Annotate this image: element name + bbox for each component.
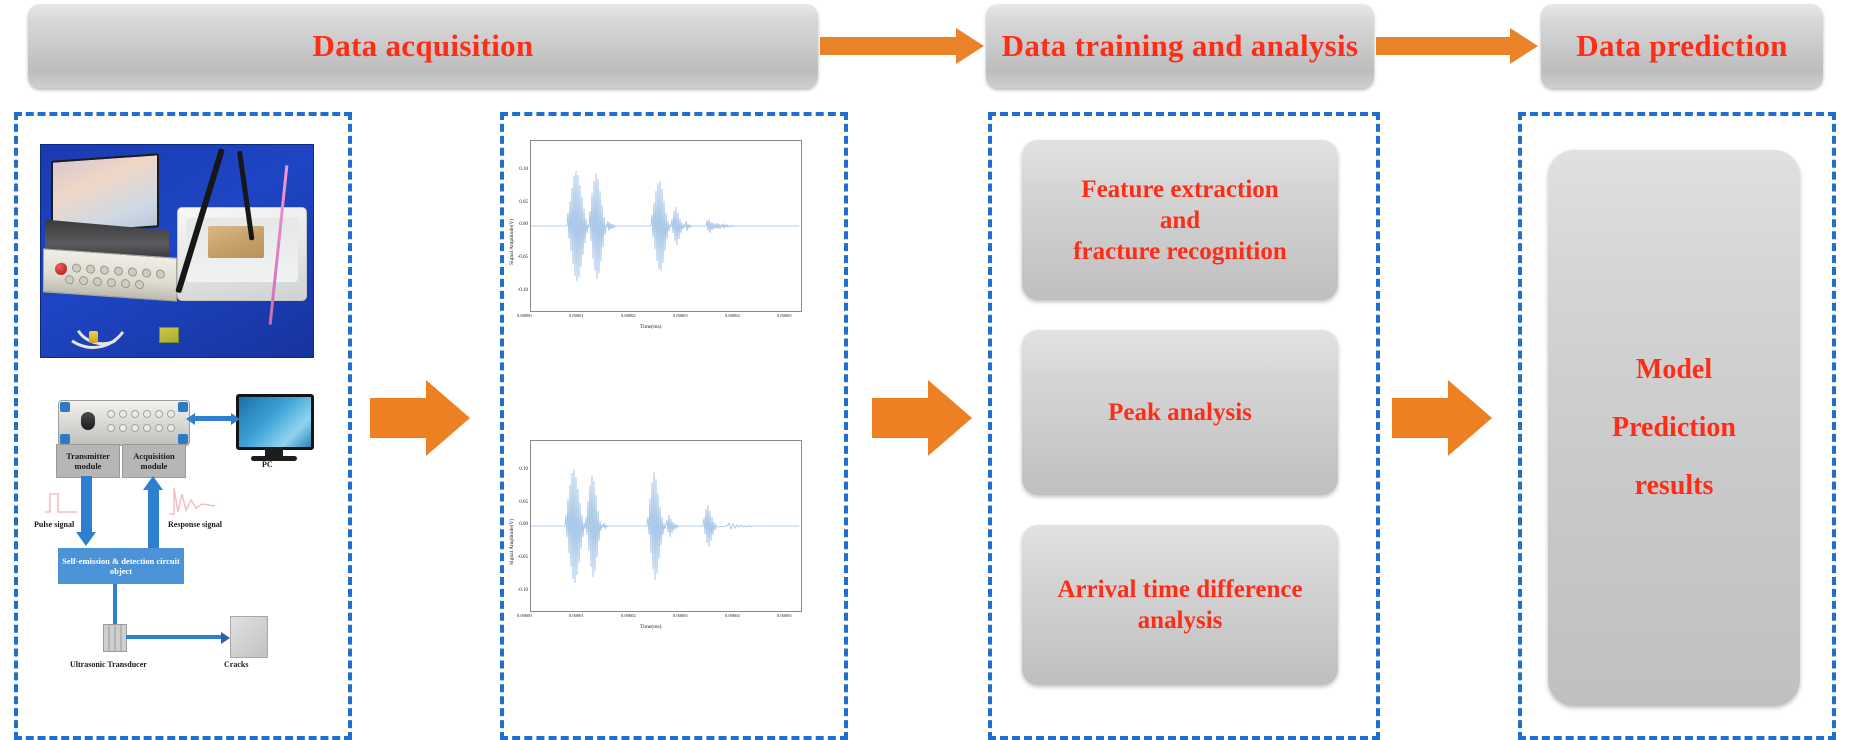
bnc-connector — [89, 331, 98, 343]
experiment-setup-photo — [40, 144, 314, 358]
ultrasonic-instrument-icon — [58, 400, 190, 446]
chart-upper-ytick: -0.10 — [505, 288, 528, 293]
cracks-label: Cracks — [224, 660, 248, 669]
prediction-line: results — [1635, 457, 1714, 515]
header-stage-training[interactable]: Data training and analysis — [986, 4, 1374, 88]
chart-upper-xtick: 0.00002 — [621, 313, 636, 318]
cracks-icon — [230, 616, 268, 658]
signal-chart-upper — [530, 140, 802, 312]
analysis-box-peak-analysis[interactable]: Peak analysis — [1022, 330, 1338, 495]
header-stage-label: Data prediction — [1576, 28, 1787, 64]
chart-lower-xlabel: Time(ms) — [640, 624, 662, 630]
prediction-result-box[interactable]: Model Prediction results — [1548, 150, 1800, 706]
sensor-chip — [159, 327, 179, 343]
transmitter-module-box: Transmitter module — [56, 444, 120, 478]
chart-upper-xlabel: Time(ms) — [640, 324, 662, 330]
chart-lower-xtick: 0.00003 — [673, 613, 688, 618]
chart-upper-ytick: 0.05 — [508, 200, 528, 205]
chart-upper-ytick: 0.10 — [508, 167, 528, 172]
chart-lower-ytick: -0.05 — [505, 555, 528, 560]
object-transducer-link — [113, 584, 117, 624]
header-stage-prediction[interactable]: Data prediction — [1541, 4, 1823, 88]
chart-lower-ytick: 0.05 — [508, 500, 528, 505]
signal-chart-lower — [530, 440, 802, 612]
concrete-sample — [208, 226, 264, 258]
flow-arrow-3-icon — [1392, 380, 1494, 456]
signal-waveform-upper — [531, 141, 801, 311]
header-arrow-1-icon — [820, 28, 984, 64]
chart-upper-xtick: 0.00000 — [517, 313, 532, 318]
analysis-box-label: Feature extraction and fracture recognit… — [1073, 174, 1287, 267]
instrument-pc-link — [194, 416, 232, 421]
chart-lower-ytick: 0.10 — [508, 467, 528, 472]
arrow-left-icon — [186, 413, 195, 425]
header-stage-acquisition[interactable]: Data acquisition — [28, 4, 818, 88]
transducer-crack-link — [126, 635, 222, 639]
acquisition-module-box: Acquisition module — [122, 444, 186, 478]
arrow-right-icon — [221, 632, 230, 644]
analysis-box-arrival-time[interactable]: Arrival time difference analysis — [1022, 525, 1338, 685]
flow-arrow-2-icon — [872, 380, 974, 456]
chart-upper-xtick: 0.00003 — [673, 313, 688, 318]
response-arrow-shaft — [148, 490, 159, 548]
signal-waveform-lower — [531, 441, 801, 611]
panel-data-acquisition: PC Transmitter module Acquisition module… — [14, 112, 352, 740]
response-waveform-icon — [168, 484, 216, 516]
header-arrow-2-icon — [1376, 28, 1538, 64]
arrow-right-icon — [231, 413, 240, 425]
response-signal-label: Response signal — [168, 520, 222, 529]
analysis-box-label: Arrival time difference analysis — [1057, 574, 1302, 636]
transducer-label: Ultrasonic Transducer — [70, 660, 147, 669]
analysis-box-label: Peak analysis — [1108, 397, 1252, 428]
ultrasonic-transducer-icon — [103, 624, 127, 652]
chart-upper-xtick: 0.00001 — [569, 313, 584, 318]
chart-lower-ytick: 0.00 — [508, 522, 528, 527]
header-stage-label: Data acquisition — [313, 28, 534, 64]
chart-upper-xtick: 0.00005 — [777, 313, 792, 318]
chart-upper-xtick: 0.00004 — [725, 313, 740, 318]
chart-upper-ytick: -0.05 — [505, 255, 528, 260]
pc-monitor-icon — [236, 394, 314, 450]
chart-lower-xtick: 0.00005 — [777, 613, 792, 618]
chart-lower-xtick: 0.00000 — [517, 613, 532, 618]
pulse-signal-label: Pulse signal — [34, 520, 74, 529]
chart-lower-xtick: 0.00002 — [621, 613, 636, 618]
acquisition-schematic: PC Transmitter module Acquisition module… — [18, 384, 348, 732]
pulse-arrow-shaft — [81, 476, 92, 532]
pulse-waveform-icon — [44, 488, 78, 514]
chart-lower-ytick: -0.10 — [505, 588, 528, 593]
flow-arrow-1-icon — [370, 380, 472, 456]
prediction-line: Prediction — [1612, 399, 1736, 457]
prediction-line: Model — [1636, 341, 1712, 399]
pipeline-header: Data acquisition Data training and analy… — [0, 0, 1850, 94]
red-connector — [55, 263, 67, 275]
chart-upper-ytick: 0.00 — [508, 222, 528, 227]
arrow-down-icon — [76, 532, 96, 546]
arrow-up-icon — [143, 476, 163, 490]
chart-lower-xtick: 0.00001 — [569, 613, 584, 618]
header-stage-label: Data training and analysis — [1002, 28, 1359, 64]
analysis-box-feature-extraction[interactable]: Feature extraction and fracture recognit… — [1022, 140, 1338, 300]
chart-lower-xtick: 0.00004 — [725, 613, 740, 618]
circuit-object-box: Self-emission & detection circuit object — [58, 548, 184, 584]
pc-label: PC — [262, 460, 273, 469]
